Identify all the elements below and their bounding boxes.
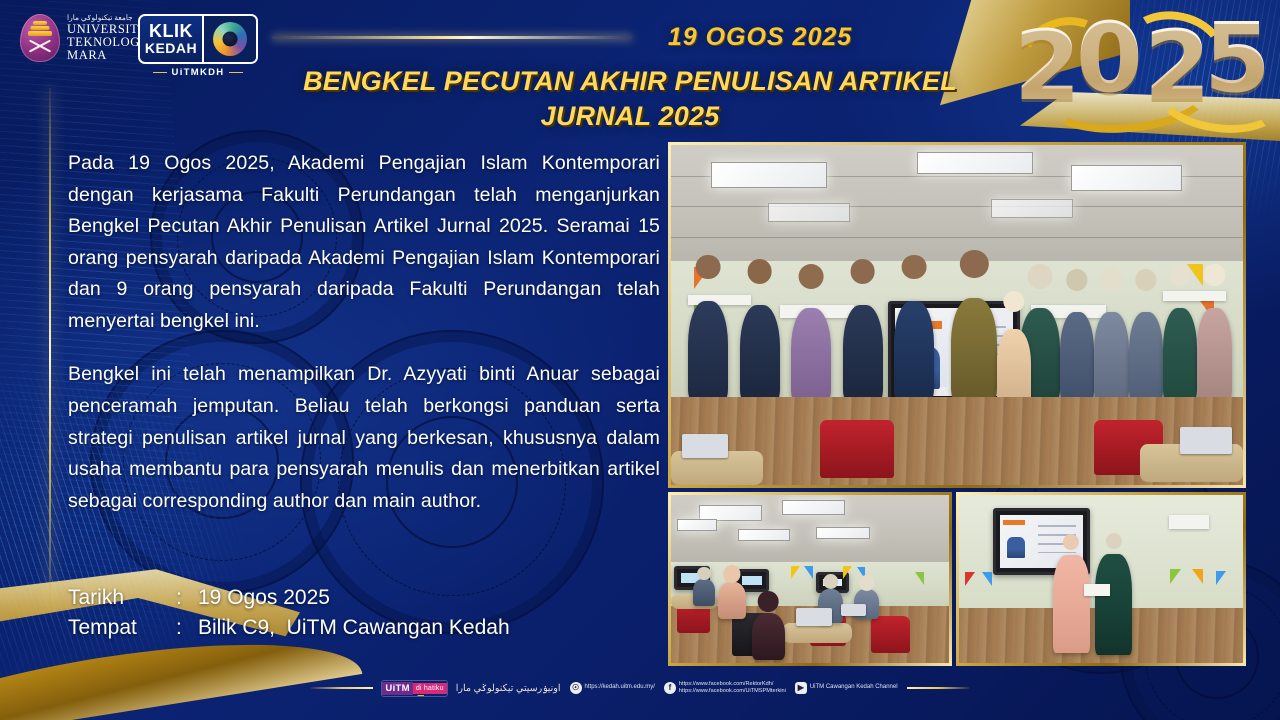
year-2025-graphic: 2 0 2 5 [1006, 4, 1274, 124]
footer-bar: UiTM di hatiku اونيۏرسيتي تيكنولوݢي مارا… [0, 674, 1280, 702]
badge-hatiku-text: di hatiku [413, 683, 447, 694]
website-link[interactable]: ☉ https://kedah.uitm.edu.my/ [570, 682, 655, 694]
globe-icon: ☉ [570, 682, 582, 694]
footer-jawi-text: اونيۏرسيتي تيكنولوݢي مارا [456, 683, 561, 694]
group-photo-seminar-room [668, 142, 1246, 488]
website-url: https://kedah.uitm.edu.my/ [585, 684, 655, 692]
youtube-channel-name: UiTM Cawangan Kedah Channel [810, 684, 898, 692]
detail-label: Tarikh [68, 583, 176, 613]
poster-canvas: جامعة تيكنولوݢي مارا UNIVERSITI TEKNOLOG… [0, 0, 1280, 720]
header-divider-rule [272, 36, 632, 39]
body-paragraph-2: Bengkel ini telah menampilkan Dr. Azyyat… [68, 359, 660, 517]
uitm-line-1: UNIVERSITI [67, 23, 145, 36]
token-presentation-photo [956, 492, 1246, 666]
uitm-logo: جامعة تيكنولوݢي مارا UNIVERSITI TEKNOLOG… [20, 14, 145, 63]
kris-icon [26, 39, 54, 57]
detail-colon: : [176, 583, 198, 613]
youtube-icon: ▶ [795, 682, 807, 694]
body-paragraph-1: Pada 19 Ogos 2025, Akademi Pengajian Isl… [68, 148, 660, 337]
uitm-crest-icon [20, 14, 60, 62]
klik-word-1: KLIK [149, 22, 193, 40]
uitm-line-3: MARA [67, 49, 145, 62]
body-text-column: Pada 19 Ogos 2025, Akademi Pengajian Isl… [68, 148, 660, 517]
facebook-url-2: https://www.facebook.com/UiTMSPMterkini [679, 688, 786, 695]
detail-row: Tempat : Bilik C9, UiTM Cawangan Kedah [68, 613, 510, 643]
detail-colon: : [176, 613, 198, 643]
detail-row: Tarikh : 19 Ogos 2025 [68, 583, 510, 613]
page-title-line-1: BENGKEL PECUTAN AKHIR PENULISAN ARTIKEL [250, 64, 1010, 99]
klik-sub-rule-right [229, 72, 243, 74]
footer-rule-right [907, 687, 969, 689]
facebook-icon: f [664, 682, 676, 694]
klik-subtitle: UiTMKDH [172, 67, 225, 78]
event-details: Tarikh : 19 Ogos 2025 Tempat : Bilik C9,… [68, 583, 510, 644]
speech-bubble-tail-icon [417, 695, 424, 696]
klik-word-2: KEDAH [145, 41, 197, 56]
klik-kedah-lens-icon [213, 22, 247, 56]
uitm-line-2: TEKNOLOGI [67, 36, 145, 49]
facebook-url-1: https://www.facebook.com/RektorKdh/ [679, 681, 786, 688]
workshop-session-photo [668, 492, 952, 666]
detail-value: 19 Ogos 2025 [198, 583, 330, 613]
facebook-url-group: https://www.facebook.com/RektorKdh/ http… [679, 681, 786, 696]
badge-uitm-text: UiTM [382, 682, 412, 695]
detail-value: Bilik C9, UiTM Cawangan Kedah [198, 613, 510, 643]
uitm-di-hatiku-badge: UiTM di hatiku [382, 681, 446, 696]
page-title: BENGKEL PECUTAN AKHIR PENULISAN ARTIKEL … [250, 64, 1010, 133]
klik-kedah-logo: KLIK KEDAH UiTMKDH [138, 14, 258, 78]
youtube-link[interactable]: ▶ UiTM Cawangan Kedah Channel [795, 682, 898, 694]
page-title-line-2: JURNAL 2025 [250, 99, 1010, 134]
vertical-gold-divider [49, 88, 51, 608]
footer-rule-left [311, 687, 373, 689]
detail-label: Tempat [68, 613, 176, 643]
klik-sub-rule-left [153, 72, 167, 74]
event-date-header: 19 OGOS 2025 [650, 23, 870, 52]
uitm-wordmark: جامعة تيكنولوݢي مارا UNIVERSITI TEKNOLOG… [67, 14, 145, 63]
facebook-links[interactable]: f https://www.facebook.com/RektorKdh/ ht… [664, 681, 786, 696]
uitm-jawi-text: جامعة تيكنولوݢي مارا [67, 14, 145, 22]
